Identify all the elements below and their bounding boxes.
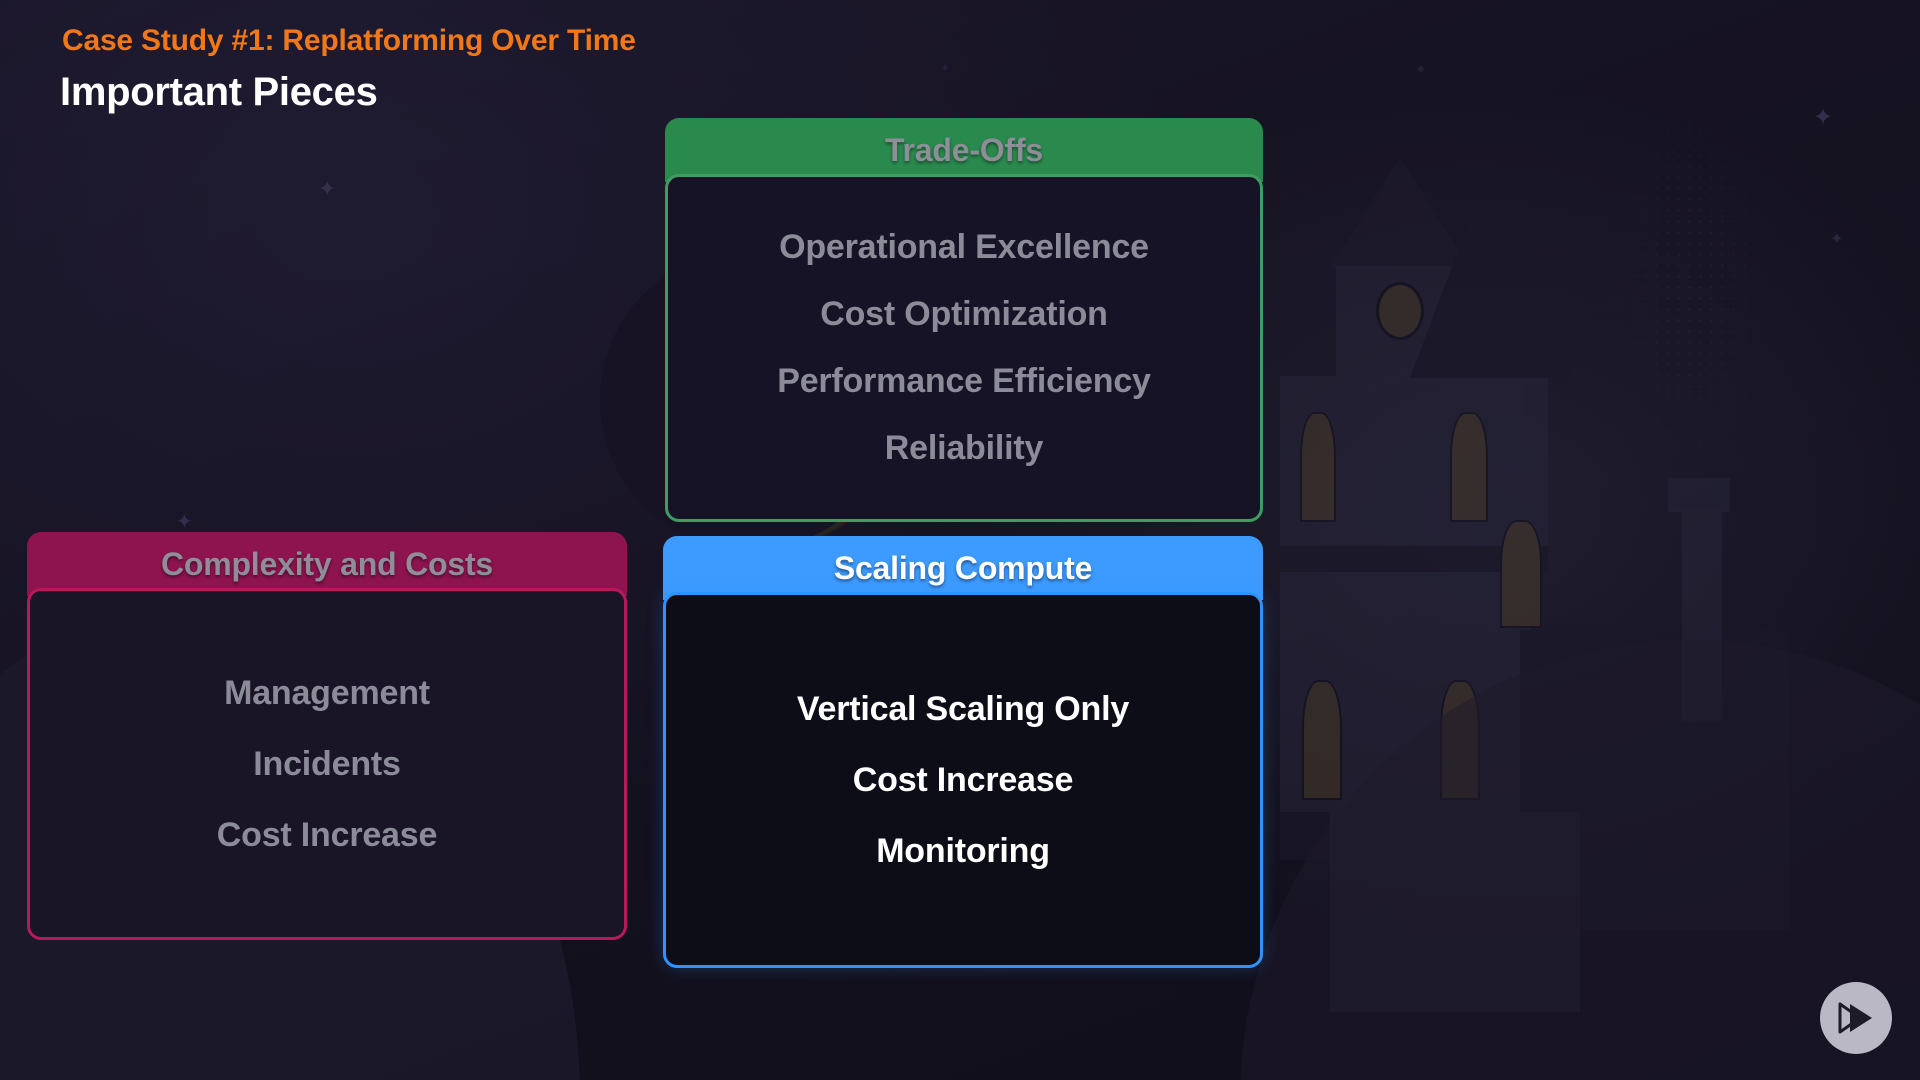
card-tradeoffs-header: Trade-Offs (665, 118, 1263, 182)
list-item: Vertical Scaling Only (797, 690, 1129, 729)
background-haunted-house-illustration (1290, 100, 1850, 1000)
list-item: Cost Optimization (820, 295, 1107, 334)
list-item: Performance Efficiency (777, 362, 1151, 401)
card-complexity-and-costs-header: Complexity and Costs (27, 532, 627, 596)
brand-badge-button[interactable] (1820, 982, 1892, 1054)
card-scaling-compute-header: Scaling Compute (663, 536, 1263, 600)
double-play-triangle-icon (1836, 1001, 1876, 1035)
presentation-slide: ✦ ✦ ✦ ✦ ✦ ✦ C (0, 0, 1920, 1080)
list-item: Management (224, 674, 430, 713)
card-complexity-and-costs-body: Management Incidents Cost Increase (27, 588, 627, 940)
list-item: Incidents (253, 745, 400, 784)
slide-eyebrow: Case Study #1: Replatforming Over Time (62, 24, 636, 58)
list-item: Cost Increase (217, 816, 437, 855)
list-item: Operational Excellence (779, 228, 1149, 267)
list-item: Monitoring (876, 832, 1050, 871)
page-title: Important Pieces (60, 70, 378, 115)
card-tradeoffs[interactable]: Trade-Offs Operational Excellence Cost O… (665, 118, 1263, 522)
card-scaling-compute[interactable]: Scaling Compute Vertical Scaling Only Co… (663, 536, 1263, 968)
card-complexity-and-costs[interactable]: Complexity and Costs Management Incident… (27, 532, 627, 940)
list-item: Reliability (885, 429, 1043, 468)
card-tradeoffs-body: Operational Excellence Cost Optimization… (665, 174, 1263, 522)
card-scaling-compute-body: Vertical Scaling Only Cost Increase Moni… (663, 592, 1263, 968)
list-item: Cost Increase (853, 761, 1073, 800)
